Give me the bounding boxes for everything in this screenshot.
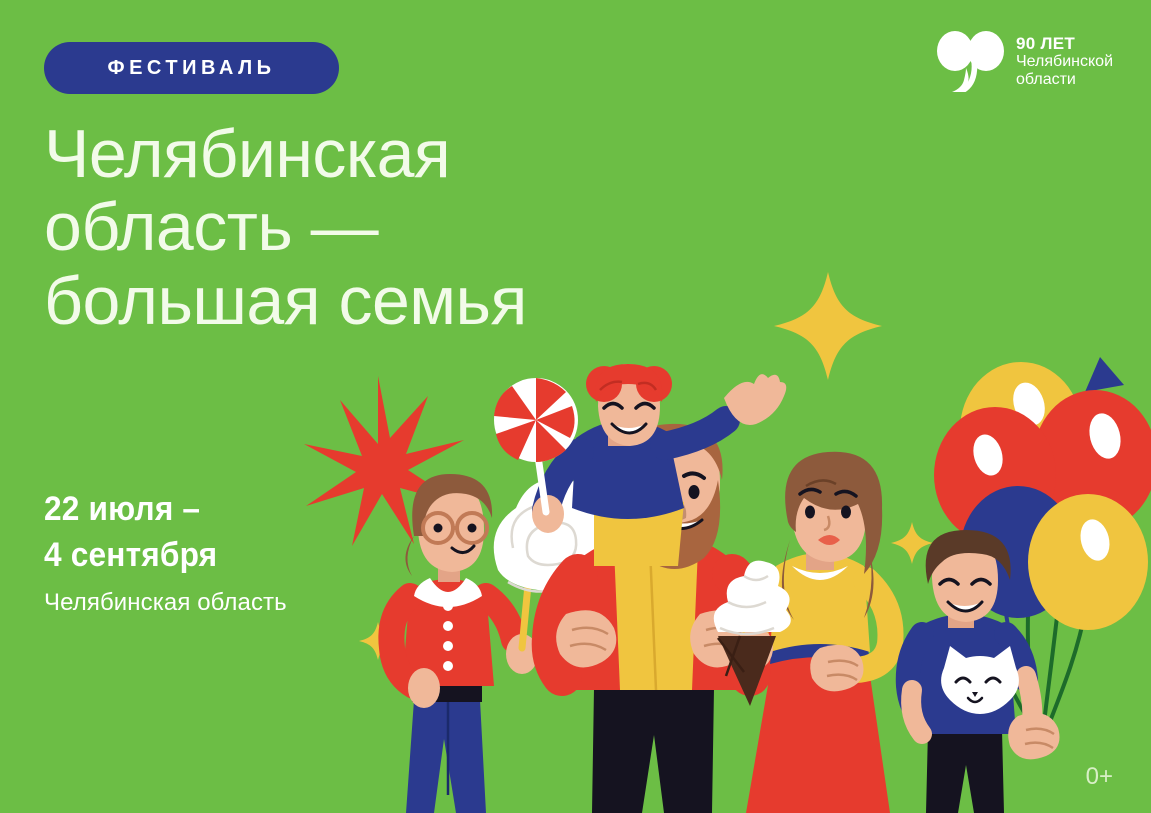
- anniversary-logo: 90 ЛЕТ Челябинской области: [936, 30, 1113, 92]
- yellow-sparkle-icon: [774, 272, 882, 380]
- logo-line-2: Челябинской: [1016, 53, 1113, 71]
- age-rating-badge: 0+: [1086, 763, 1113, 791]
- event-date-end: 4 сентября: [44, 533, 270, 579]
- event-dates-block: 22 июля – 4 сентября Челябинская область: [44, 487, 287, 617]
- festival-poster: ФЕСТИВАЛЬ 90 ЛЕТ Челябинской области Чел…: [0, 0, 1151, 813]
- logo-line-3: области: [1016, 71, 1113, 89]
- event-location: Челябинская область: [44, 589, 287, 617]
- logo-line-1: 90 ЛЕТ: [1016, 34, 1113, 53]
- balloon-yellow-2: [1028, 494, 1148, 630]
- page-title: Челябинская область — большая семья: [44, 118, 604, 338]
- festival-badge-label: ФЕСТИВАЛЬ: [108, 57, 276, 80]
- event-date-start: 22 июля –: [44, 487, 270, 533]
- navy-triangle-icon: [1085, 357, 1124, 392]
- anniversary-logo-text: 90 ЛЕТ Челябинской области: [1016, 34, 1113, 89]
- ninety-years-mark-icon: [936, 30, 1004, 92]
- festival-badge: ФЕСТИВАЛЬ: [44, 42, 339, 94]
